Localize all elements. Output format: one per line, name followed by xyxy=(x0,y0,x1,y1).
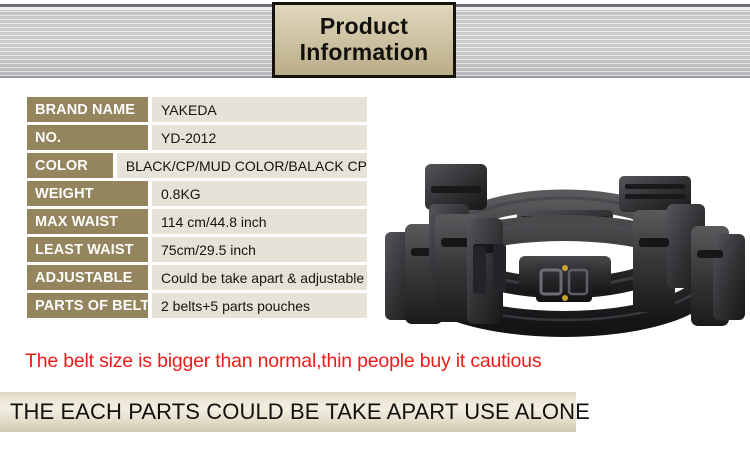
buckle-brass-pin-top xyxy=(562,265,568,271)
spec-label-weight: WEIGHT xyxy=(27,181,148,206)
spec-label-brand-name: BRAND NAME xyxy=(27,97,148,122)
spec-value-no: YD-2012 xyxy=(152,125,367,150)
spec-label-adjustable: ADJUSTABLE xyxy=(27,265,148,290)
spec-label-max-waist: MAX WAIST xyxy=(27,209,148,234)
pouch-right-mag-strap xyxy=(639,238,669,247)
pouch-right-rear-webbing-2 xyxy=(625,194,685,199)
product-information-page: Product Information BRAND NAME YAKEDA NO… xyxy=(0,0,750,458)
bottom-banner: THE EACH PARTS COULD BE TAKE APART USE A… xyxy=(0,392,576,432)
table-row: NO. YD-2012 xyxy=(27,125,367,150)
spec-label-least-waist: LEAST WAIST xyxy=(27,237,148,262)
page-title-box: Product Information xyxy=(272,2,456,78)
spec-value-weight: 0.8KG xyxy=(152,181,367,206)
table-row: PARTS OF BELT 2 belts+5 parts pouches xyxy=(27,293,367,318)
pouch-far-right-outer xyxy=(713,234,745,320)
pouch-far-right-flap xyxy=(697,250,723,258)
belt-keeper-left xyxy=(473,246,486,294)
size-warning-note: The belt size is bigger than normal,thin… xyxy=(25,350,541,373)
spec-label-color: COLOR xyxy=(27,153,113,178)
spec-value-parts-of-belt: 2 belts+5 parts pouches xyxy=(152,293,367,318)
pouch-right-rear-webbing-1 xyxy=(625,184,685,189)
spec-label-no: NO. xyxy=(27,125,148,150)
table-row: COLOR BLACK/CP/MUD COLOR/BALACK CP xyxy=(27,153,367,178)
table-row: BRAND NAME YAKEDA xyxy=(27,97,367,122)
table-row: ADJUSTABLE Could be take apart & adjusta… xyxy=(27,265,367,290)
pouch-left-rear-strap xyxy=(431,186,481,193)
specification-table: BRAND NAME YAKEDA NO. YD-2012 COLOR BLAC… xyxy=(27,97,367,321)
spec-value-brand-name: YAKEDA xyxy=(152,97,367,122)
spec-value-color: BLACK/CP/MUD COLOR/BALACK CP xyxy=(117,153,367,178)
page-title-line-1: Product xyxy=(320,14,408,40)
buckle-brass-pin-bottom xyxy=(562,295,568,301)
spec-value-least-waist: 75cm/29.5 inch xyxy=(152,237,367,262)
bottom-banner-text: THE EACH PARTS COULD BE TAKE APART USE A… xyxy=(0,399,590,425)
table-row: LEAST WAIST 75cm/29.5 inch xyxy=(27,237,367,262)
table-row: WEIGHT 0.8KG xyxy=(27,181,367,206)
table-row: MAX WAIST 114 cm/44.8 inch xyxy=(27,209,367,234)
product-photo-tactical-belt xyxy=(381,158,747,340)
spec-label-parts-of-belt: PARTS OF BELT xyxy=(27,293,148,318)
page-title-line-2: Information xyxy=(300,40,429,66)
spec-value-adjustable: Could be take apart & adjustable xyxy=(152,265,367,290)
spec-value-max-waist: 114 cm/44.8 inch xyxy=(152,209,367,234)
belt-keeper-left-2 xyxy=(493,244,506,292)
